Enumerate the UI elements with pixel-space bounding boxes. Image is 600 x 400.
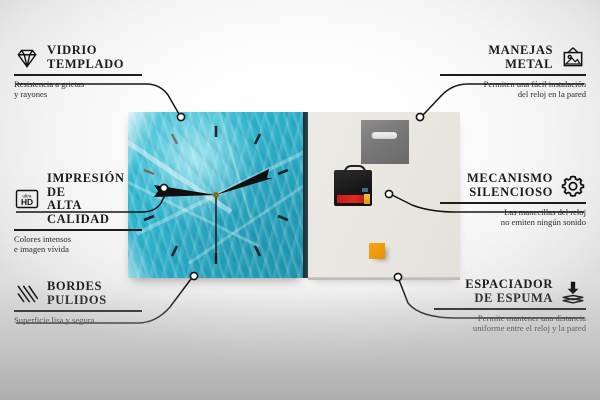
callout-title: MANEJAS METAL xyxy=(488,44,553,71)
callout-bordes-pulidos: BORDES PULIDOS Superficie lisa y segura xyxy=(14,280,142,325)
clock-mechanism-module xyxy=(334,170,372,206)
callout-desc-line2: e imagen vívida xyxy=(14,244,142,255)
callout-rule xyxy=(440,202,586,204)
battery xyxy=(337,195,369,203)
mechanism-hanging-loop xyxy=(344,165,366,176)
callout-espaciador-de-espuma: ESPACIADOR DE ESPUMA Permite mantener un… xyxy=(434,278,586,334)
callout-desc-line1: Colores intensos xyxy=(14,234,142,245)
callout-desc-line1: Las manecillas del reloj xyxy=(440,207,586,218)
callout-desc-line1: Superficie lisa y segura xyxy=(14,315,142,326)
callout-header: ESPACIADOR DE ESPUMA xyxy=(434,278,586,305)
hanger-slot xyxy=(371,132,397,139)
callout-desc-line2: y rayones xyxy=(14,89,142,100)
callout-rule xyxy=(14,74,142,76)
metal-hanger-plate xyxy=(361,120,409,164)
callout-rule xyxy=(14,310,142,312)
callout-rule xyxy=(434,308,586,310)
callout-title: MECANISMO SILENCIOSO xyxy=(467,172,553,199)
callout-mecanismo-silencioso: MECANISMO SILENCIOSO Las manecillas del … xyxy=(440,172,586,228)
callout-rule xyxy=(14,229,142,231)
callout-manejas-metal: MANEJAS METAL Permiten una fácil instala… xyxy=(440,44,586,100)
callout-desc-line1: Permite mantener una distancia xyxy=(434,313,586,324)
callout-desc-line2: no emiten ningún sonido xyxy=(440,217,586,228)
callout-title: VIDRIO TEMPLADO xyxy=(47,44,124,71)
callout-rule xyxy=(440,74,586,76)
product-composite xyxy=(128,112,460,279)
mechanism-chip xyxy=(362,188,368,192)
foam-spacer-pad xyxy=(369,243,385,259)
callout-desc-line1: Resistencia a grietas xyxy=(14,79,142,90)
callout-desc-line2: del reloj en la pared xyxy=(440,89,586,100)
diamond-icon xyxy=(14,45,40,71)
ultra-hd-icon: ultra HD xyxy=(14,186,40,212)
svg-text:HD: HD xyxy=(21,197,33,207)
callout-vidrio-templado: VIDRIO TEMPLADO Resistencia a grietas y … xyxy=(14,44,142,100)
callout-title: ESPACIADOR DE ESPUMA xyxy=(465,278,553,305)
picture-hanger-icon xyxy=(560,45,586,71)
foam-spacer-icon xyxy=(560,279,586,305)
callout-title: BORDES PULIDOS xyxy=(47,280,107,307)
callout-header: MECANISMO SILENCIOSO xyxy=(440,172,586,199)
clock-front-glass-panel xyxy=(128,112,304,278)
polished-edges-icon xyxy=(14,281,40,307)
clock-face xyxy=(128,112,304,278)
callout-header: ultra HD IMPRESIÓN DE ALTA CALIDAD xyxy=(14,172,142,226)
clock-back-panel xyxy=(308,112,460,277)
callout-header: BORDES PULIDOS xyxy=(14,280,142,307)
callout-desc-line1: Permiten una fácil instalación xyxy=(440,79,586,90)
callout-header: MANEJAS METAL xyxy=(440,44,586,71)
product-infographic: VIDRIO TEMPLADO Resistencia a grietas y … xyxy=(0,0,600,400)
callout-header: VIDRIO TEMPLADO xyxy=(14,44,142,71)
callout-impresion-alta-calidad: ultra HD IMPRESIÓN DE ALTA CALIDAD Color… xyxy=(14,172,142,255)
callout-title: IMPRESIÓN DE ALTA CALIDAD xyxy=(47,172,142,226)
gear-icon xyxy=(560,173,586,199)
callout-desc-line2: uniforme entre el reloj y la pared xyxy=(434,323,586,334)
